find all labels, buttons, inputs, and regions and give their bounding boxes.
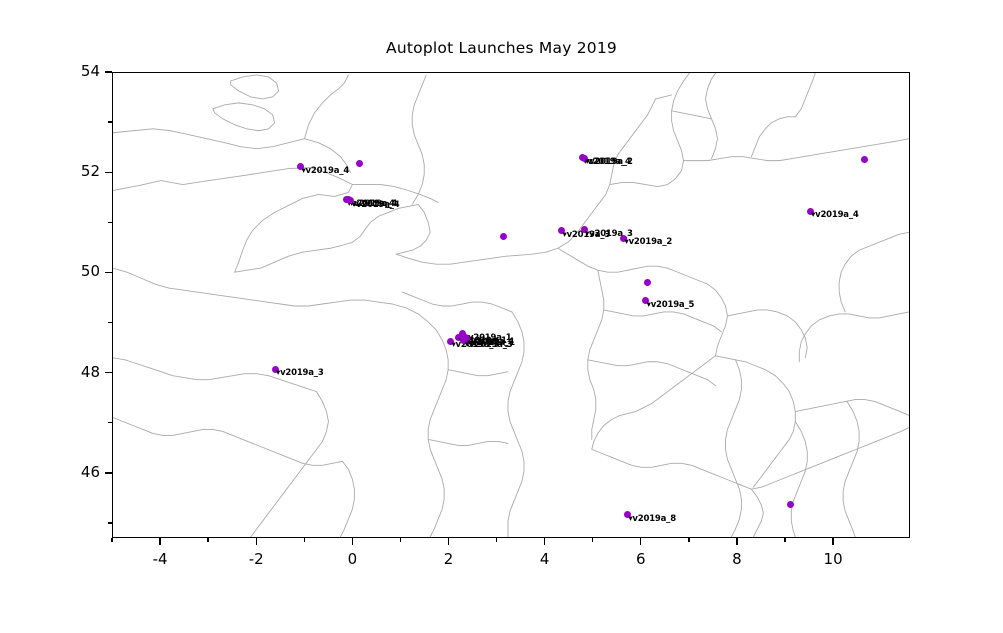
figure-canvas: Autoplot Launches May 2019 [0, 0, 1003, 633]
x-axis-tick-label: 8 [717, 550, 757, 568]
x-axis-tick-label: -4 [140, 550, 180, 568]
x-axis-tick [832, 538, 833, 545]
data-point-label: ▾v2019a_8 [628, 514, 676, 524]
x-axis-tick-label: -2 [236, 550, 276, 568]
y-axis-tick [105, 372, 112, 373]
y-axis-tick [105, 472, 112, 473]
data-point-label: ▾v2019a_5 [647, 300, 695, 310]
x-axis-minor-tick [400, 538, 401, 542]
chart-title: Autoplot Launches May 2019 [0, 39, 1003, 57]
y-axis-tick-label: 46 [54, 463, 100, 481]
y-axis-minor-tick [108, 322, 112, 323]
x-axis-tick-label: 10 [813, 550, 853, 568]
data-point-label: ▾v2019a_2 [625, 237, 673, 247]
data-point-label: ▾v2019a_4 [301, 166, 349, 176]
x-axis-minor-tick [111, 538, 112, 542]
x-axis-tick [159, 538, 160, 545]
x-axis-tick [352, 538, 353, 545]
y-axis-minor-tick [108, 121, 112, 122]
y-axis-tick [105, 272, 112, 273]
data-point-label: ▾v2019a_4 [352, 200, 400, 210]
x-axis-tick-label: 2 [429, 550, 469, 568]
x-axis-minor-tick [207, 538, 208, 542]
y-axis-minor-tick [108, 522, 112, 523]
data-point[interactable] [861, 156, 868, 163]
y-axis-tick-label: 52 [54, 162, 100, 180]
x-axis-tick-label: 4 [525, 550, 565, 568]
x-axis-tick [736, 538, 737, 545]
x-axis-minor-tick [496, 538, 497, 542]
coastline-map [113, 73, 909, 537]
y-axis-tick-label: 54 [54, 62, 100, 80]
y-axis-minor-tick [108, 222, 112, 223]
x-axis-minor-tick [592, 538, 593, 542]
y-axis-tick-label: 50 [54, 262, 100, 280]
x-axis-tick [640, 538, 641, 545]
y-axis-tick [105, 71, 112, 72]
data-point[interactable] [356, 160, 363, 167]
x-axis-tick-label: 0 [332, 550, 372, 568]
x-axis-minor-tick [304, 538, 305, 542]
x-axis-tick-label: 6 [621, 550, 661, 568]
data-point-label: ▾v2019a_3 [465, 340, 513, 350]
y-axis-minor-tick [108, 422, 112, 423]
x-axis-minor-tick [688, 538, 689, 542]
x-axis-tick [544, 538, 545, 545]
map-plot-area[interactable]: ▾v2019a_4▾v2019a_4▾v2019a_4▾v2019a_4▾v20… [112, 72, 910, 538]
data-point[interactable] [644, 279, 651, 286]
y-axis-tick [105, 172, 112, 173]
data-point-label: ▾v2019a_3 [276, 368, 324, 378]
x-axis-tick [448, 538, 449, 545]
y-axis-tick-label: 48 [54, 363, 100, 381]
x-axis-minor-tick [784, 538, 785, 542]
data-point-label: ▾v2019a_4 [811, 210, 859, 220]
x-axis-tick [256, 538, 257, 545]
data-point-label: ▾v2019a_2 [585, 157, 633, 167]
